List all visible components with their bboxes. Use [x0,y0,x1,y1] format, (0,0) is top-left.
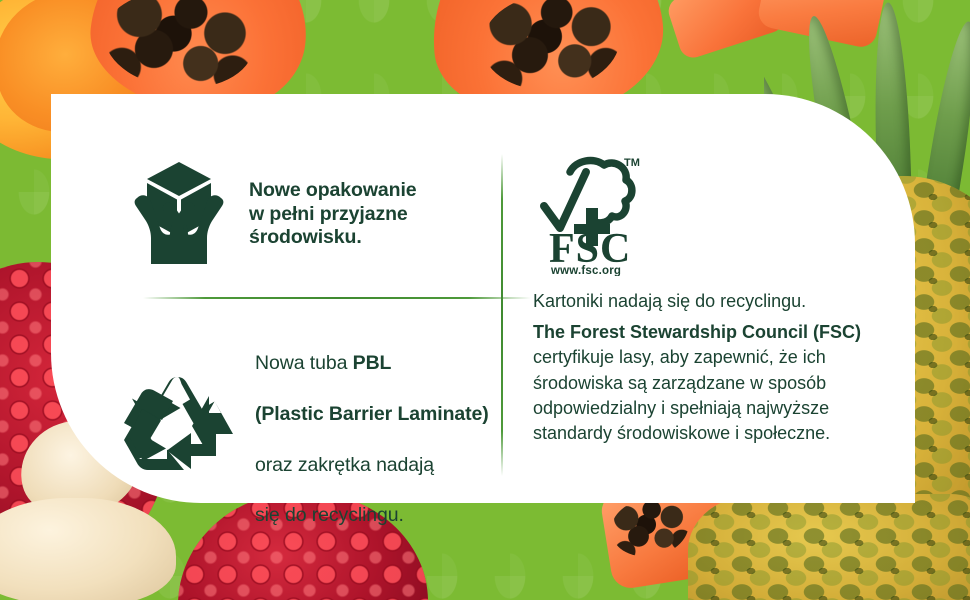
hands-holding-box-icon [131,156,227,273]
papaya-seeds [478,0,624,96]
tube-line3: oraz zakrętka nadają [255,454,434,476]
fsc-bold-intro: The Forest Stewardship Council (FSC) [533,322,861,342]
fsc-url: www.fsc.org [550,265,621,276]
tube-line4: się do recyclingu. [255,504,404,526]
pineapple-scale-dots [688,494,970,600]
papaya-seeds [99,0,258,96]
fsc-body-paragraph: The Forest Stewardship Council (FSC) cer… [533,320,893,446]
vertical-divider [501,154,503,476]
fsc-trademark: TM [624,157,640,169]
fsc-lead-line: Kartoniki nadają się do recyclingu. [533,289,893,314]
feature-eco-packaging-text: Nowe opakowanie w pełni przyjazne środow… [249,179,417,250]
right-column: TM FSC www.fsc.org Kartoniki nadają się … [500,94,915,503]
pineapple-bottom-image [688,494,970,600]
tube-line2-bold: (Plastic Barrier Laminate) [255,403,489,425]
horizontal-divider [143,297,531,299]
feature-eco-packaging: Nowe opakowanie w pełni przyjazne środow… [131,156,417,273]
fsc-body-text: certyfikuje lasy, aby zapewnić, że ich ś… [533,347,830,443]
feature-recyclable-tube: Nowa tuba PBL (Plastic Barrier Laminate)… [121,326,489,529]
papaya-seeds [607,493,693,562]
tube-line1-pre: Nowa tuba [255,352,353,374]
left-column: Nowe opakowanie w pełni przyjazne środow… [51,94,500,503]
feature-recyclable-tube-text: Nowa tuba PBL (Plastic Barrier Laminate)… [255,326,489,529]
fsc-description: Kartoniki nadają się do recyclingu. The … [533,289,893,446]
fsc-logo: TM FSC www.fsc.org [536,150,646,281]
recycling-symbol-icon [121,374,233,481]
tube-line1-bold: PBL [353,352,392,374]
info-card: Nowe opakowanie w pełni przyjazne środow… [51,94,915,503]
